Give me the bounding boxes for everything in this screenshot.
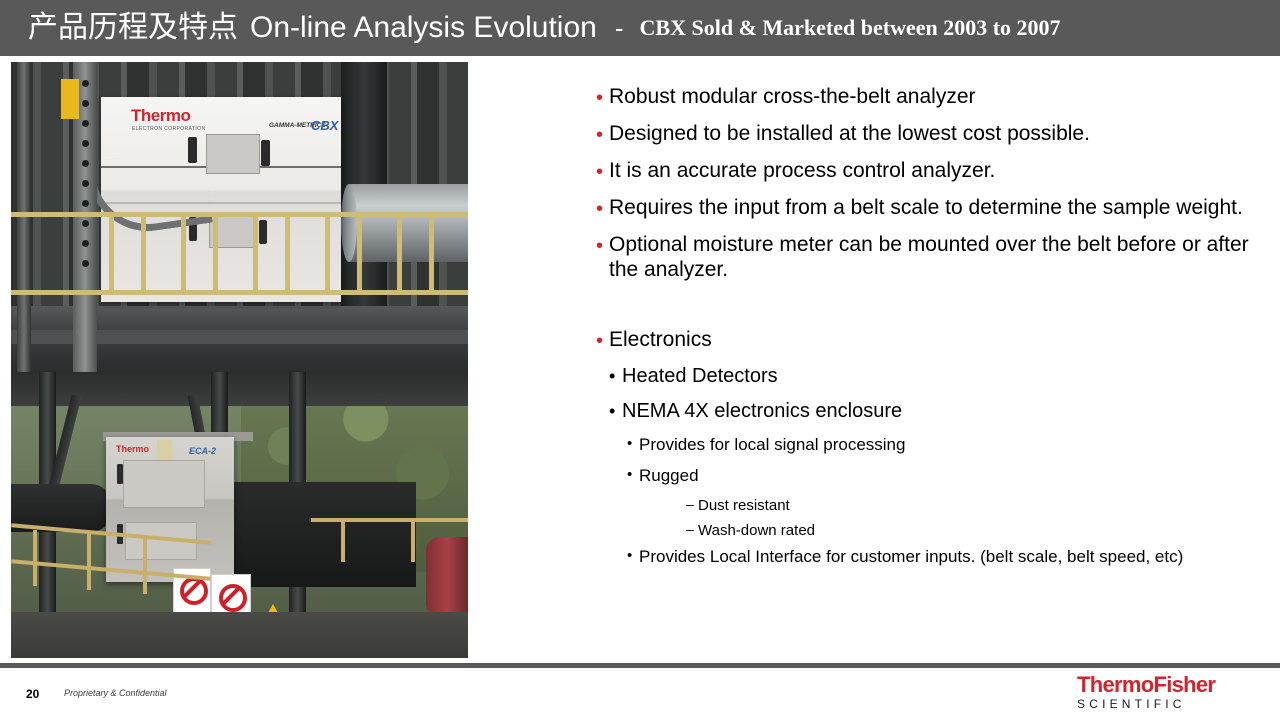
bullet-label: Requires the input from a belt scale to … [609,195,1272,220]
railing-post [285,212,290,292]
bullet-marker: • [596,158,609,182]
railing-post [325,212,330,292]
bullet-item: • Optional moisture meter can be mounted… [596,232,1272,282]
bullet-label: Dust resistant [698,496,1272,515]
bullet-item: – Dust resistant [596,496,1272,515]
cabinet-hinge-4 [259,220,267,244]
bullet-item: • Robust modular cross-the-belt analyzer [596,84,1272,109]
photo-lower-eca2-installation: Thermo ECA-2 [11,372,468,658]
bullet-item: • Designed to be installed at the lowest… [596,121,1272,146]
bullet-item: • Heated Detectors [596,364,1272,388]
logo-wordmark: ThermoFisher [1077,674,1217,696]
railing-post [429,212,434,292]
title-separator-dash: - [615,15,624,41]
slide-header: 产品历程及特点 On-line Analysis Evolution - CBX… [0,0,1280,56]
cabinet-hatch-upper [206,134,260,174]
bullet-label: It is an accurate process control analyz… [609,158,1272,183]
bullet-item: • NEMA 4X electronics enclosure [596,399,1272,423]
bullet-marker: • [596,84,609,108]
railing-post [357,212,362,292]
tower-hole [82,240,89,247]
bullet-item: • Provides for local signal processing [596,434,1272,455]
cabinet-hinge-2 [261,140,270,166]
bullet-label: Wash-down rated [698,521,1272,540]
railing-post [181,212,186,292]
bullet-marker-dash: – [686,521,698,536]
lower-railing-right [311,518,468,522]
tower-hole [82,220,89,227]
tower-hole [82,200,89,207]
bullet-marker: • [627,465,639,482]
bullet-label: Designed to be installed at the lowest c… [609,121,1272,146]
conveyor-duct [346,184,468,262]
bullet-marker: • [596,121,609,145]
bullet-marker: • [627,434,639,451]
bullet-item: • Electronics [596,327,1272,352]
bullet-group-features: • Robust modular cross-the-belt analyzer… [596,84,1272,282]
bullet-label: Provides for local signal processing [639,434,1272,455]
bullet-label: Robust modular cross-the-belt analyzer [609,84,1272,109]
railing-post [213,212,218,292]
lower-railing-post [33,530,37,586]
railing-post [109,212,114,292]
bullet-content: • Robust modular cross-the-belt analyzer… [596,84,1272,577]
tower-hole [82,140,89,147]
bullet-group-electronics: • Electronics • Heated Detectors • NEMA … [596,327,1272,567]
bullet-marker: • [609,364,622,385]
bullet-marker: • [596,232,609,256]
bullet-label: Rugged [639,465,1272,486]
product-photo: Thermo ELECTRON CORPORATION GAMMA-METRIC… [11,62,468,658]
bullet-label: Heated Detectors [622,364,1272,388]
duct-end-cap [341,184,357,262]
bullet-item: • It is an accurate process control anal… [596,158,1272,183]
tower-hole [82,260,89,267]
bullet-item: • Provides Local Interface for customer … [596,546,1272,567]
structural-beam-left [17,62,31,372]
bullet-label: Provides Local Interface for customer in… [639,546,1272,567]
eca2-model-text: ECA-2 [189,446,216,456]
footer-divider [0,663,1280,668]
photo-upper-cbx-installation: Thermo ELECTRON CORPORATION GAMMA-METRIC… [11,62,468,372]
bullet-item: • Rugged [596,465,1272,486]
page-subtitle: CBX Sold & Marketed between 2003 to 2007 [640,17,1061,39]
railing-post [141,212,146,292]
no-crossing-circle [219,584,247,612]
cabinet-thermo-logo: Thermo [131,106,190,126]
bullet-label: Optional moisture meter can be mounted o… [609,232,1272,282]
eca2-hinge-1 [117,464,123,484]
bullet-item: • Requires the input from a belt scale t… [596,195,1272,220]
no-entry-circle [180,577,208,605]
confidentiality-notice: Proprietary & Confidential [64,688,167,698]
eca2-yellow-tag [157,440,172,462]
tower-hole [82,120,89,127]
eca2-door-upper [123,460,205,508]
tower-hole [82,180,89,187]
tower-hole [82,80,89,87]
page-title-english: On-line Analysis Evolution [250,13,597,43]
red-drum [426,537,468,617]
logo-tagline: SCIENTIFIC [1077,697,1217,711]
bullet-marker: • [596,195,609,219]
bullet-marker-dash: – [686,496,698,511]
cabinet-cbx-model-text: CBX [311,118,338,133]
tower-hole [82,160,89,167]
bullet-marker: • [596,327,609,351]
cabinet-electron-corporation-text: ELECTRON CORPORATION [132,126,205,132]
eca2-thermo-logo: Thermo [116,444,149,454]
page-number: 20 [26,687,39,701]
lower-railing-post [87,534,91,590]
ground-surface [11,612,468,658]
bullet-item: – Wash-down rated [596,521,1272,540]
thermo-fisher-scientific-logo: ThermoFisher SCIENTIFIC [1077,674,1217,711]
bullet-group-spacer [596,294,1272,327]
railing-post [253,212,258,292]
railing-post [397,212,402,292]
yellow-warning-tag [61,79,79,119]
page-title-chinese: 产品历程及特点 [28,13,238,43]
conveyor-belt-housing [216,482,416,587]
bullet-marker: • [609,399,622,420]
tower-hole [82,100,89,107]
bullet-label: NEMA 4X electronics enclosure [622,399,1272,423]
lower-railing-post-right [341,518,345,562]
bullet-marker: • [627,546,639,563]
bullet-label: Electronics [609,327,1272,352]
lower-railing-post-right [411,518,415,562]
lower-railing-post [143,538,147,594]
